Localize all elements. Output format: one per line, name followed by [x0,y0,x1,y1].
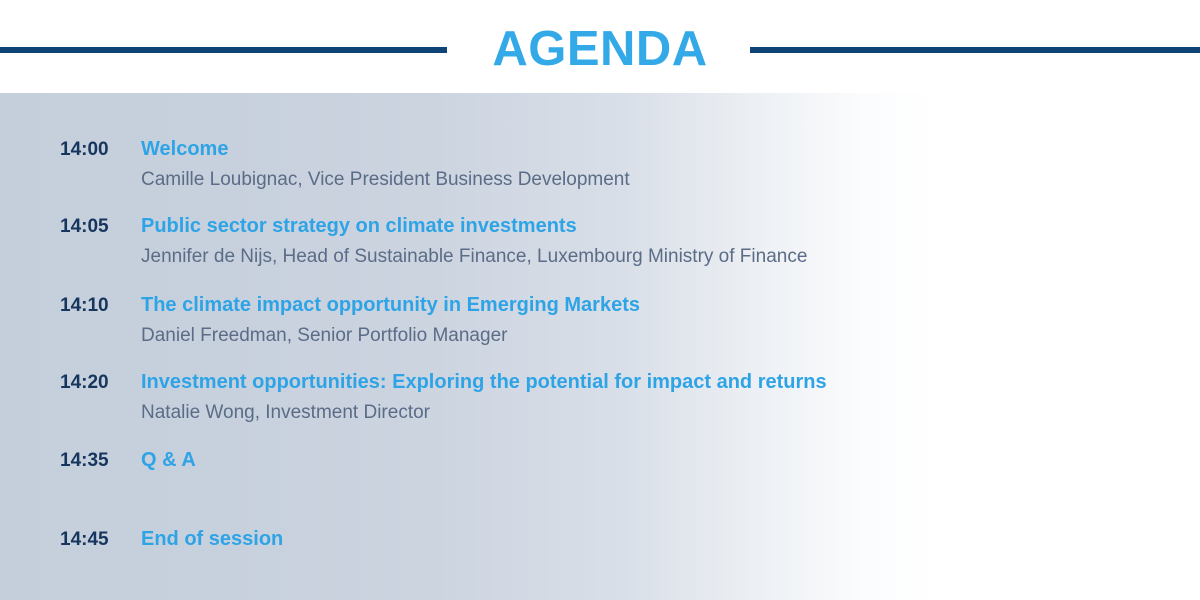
agenda-row: 14:00WelcomeCamille Loubignac, Vice Pres… [60,137,1180,192]
agenda-row-title: Public sector strategy on climate invest… [141,214,1180,239]
agenda-row-body: WelcomeCamille Loubignac, Vice President… [141,137,1180,192]
agenda-row: 14:45End of session [60,527,1180,552]
agenda-list: 14:00WelcomeCamille Loubignac, Vice Pres… [0,93,1200,600]
agenda-row-title: Investment opportunities: Exploring the … [141,370,1180,395]
agenda-row-time: 14:10 [60,293,141,318]
agenda-row-body: Public sector strategy on climate invest… [141,214,1180,269]
agenda-row-speaker: Natalie Wong, Investment Director [141,400,1180,425]
agenda-row-title: End of session [141,527,1180,552]
agenda-row: 14:05Public sector strategy on climate i… [60,214,1180,269]
agenda-row-speaker: Daniel Freedman, Senior Portfolio Manage… [141,323,1180,348]
agenda-row: 14:35Q & A [60,448,1180,473]
agenda-row-body: The climate impact opportunity in Emergi… [141,293,1180,348]
agenda-row-body: End of session [141,527,1180,552]
slide-header: AGENDA [0,0,1200,93]
agenda-row: 14:10The climate impact opportunity in E… [60,293,1180,348]
agenda-row: 14:20Investment opportunities: Exploring… [60,370,1180,425]
agenda-row-speaker: Camille Loubignac, Vice President Busine… [141,167,1180,192]
agenda-row-time: 14:45 [60,527,141,552]
agenda-row-speaker: Jennifer de Nijs, Head of Sustainable Fi… [141,244,1180,269]
agenda-slide: AGENDA 14:00WelcomeCamille Loubignac, Vi… [0,0,1200,600]
agenda-row-time: 14:20 [60,370,141,395]
agenda-row-body: Q & A [141,448,1180,473]
agenda-row-title: Welcome [141,137,1180,162]
agenda-row-body: Investment opportunities: Exploring the … [141,370,1180,425]
page-title: AGENDA [0,20,1200,78]
agenda-row-time: 14:35 [60,448,141,473]
agenda-row-time: 14:05 [60,214,141,239]
agenda-row-title: Q & A [141,448,1180,473]
agenda-row-title: The climate impact opportunity in Emergi… [141,293,1180,318]
agenda-row-time: 14:00 [60,137,141,162]
